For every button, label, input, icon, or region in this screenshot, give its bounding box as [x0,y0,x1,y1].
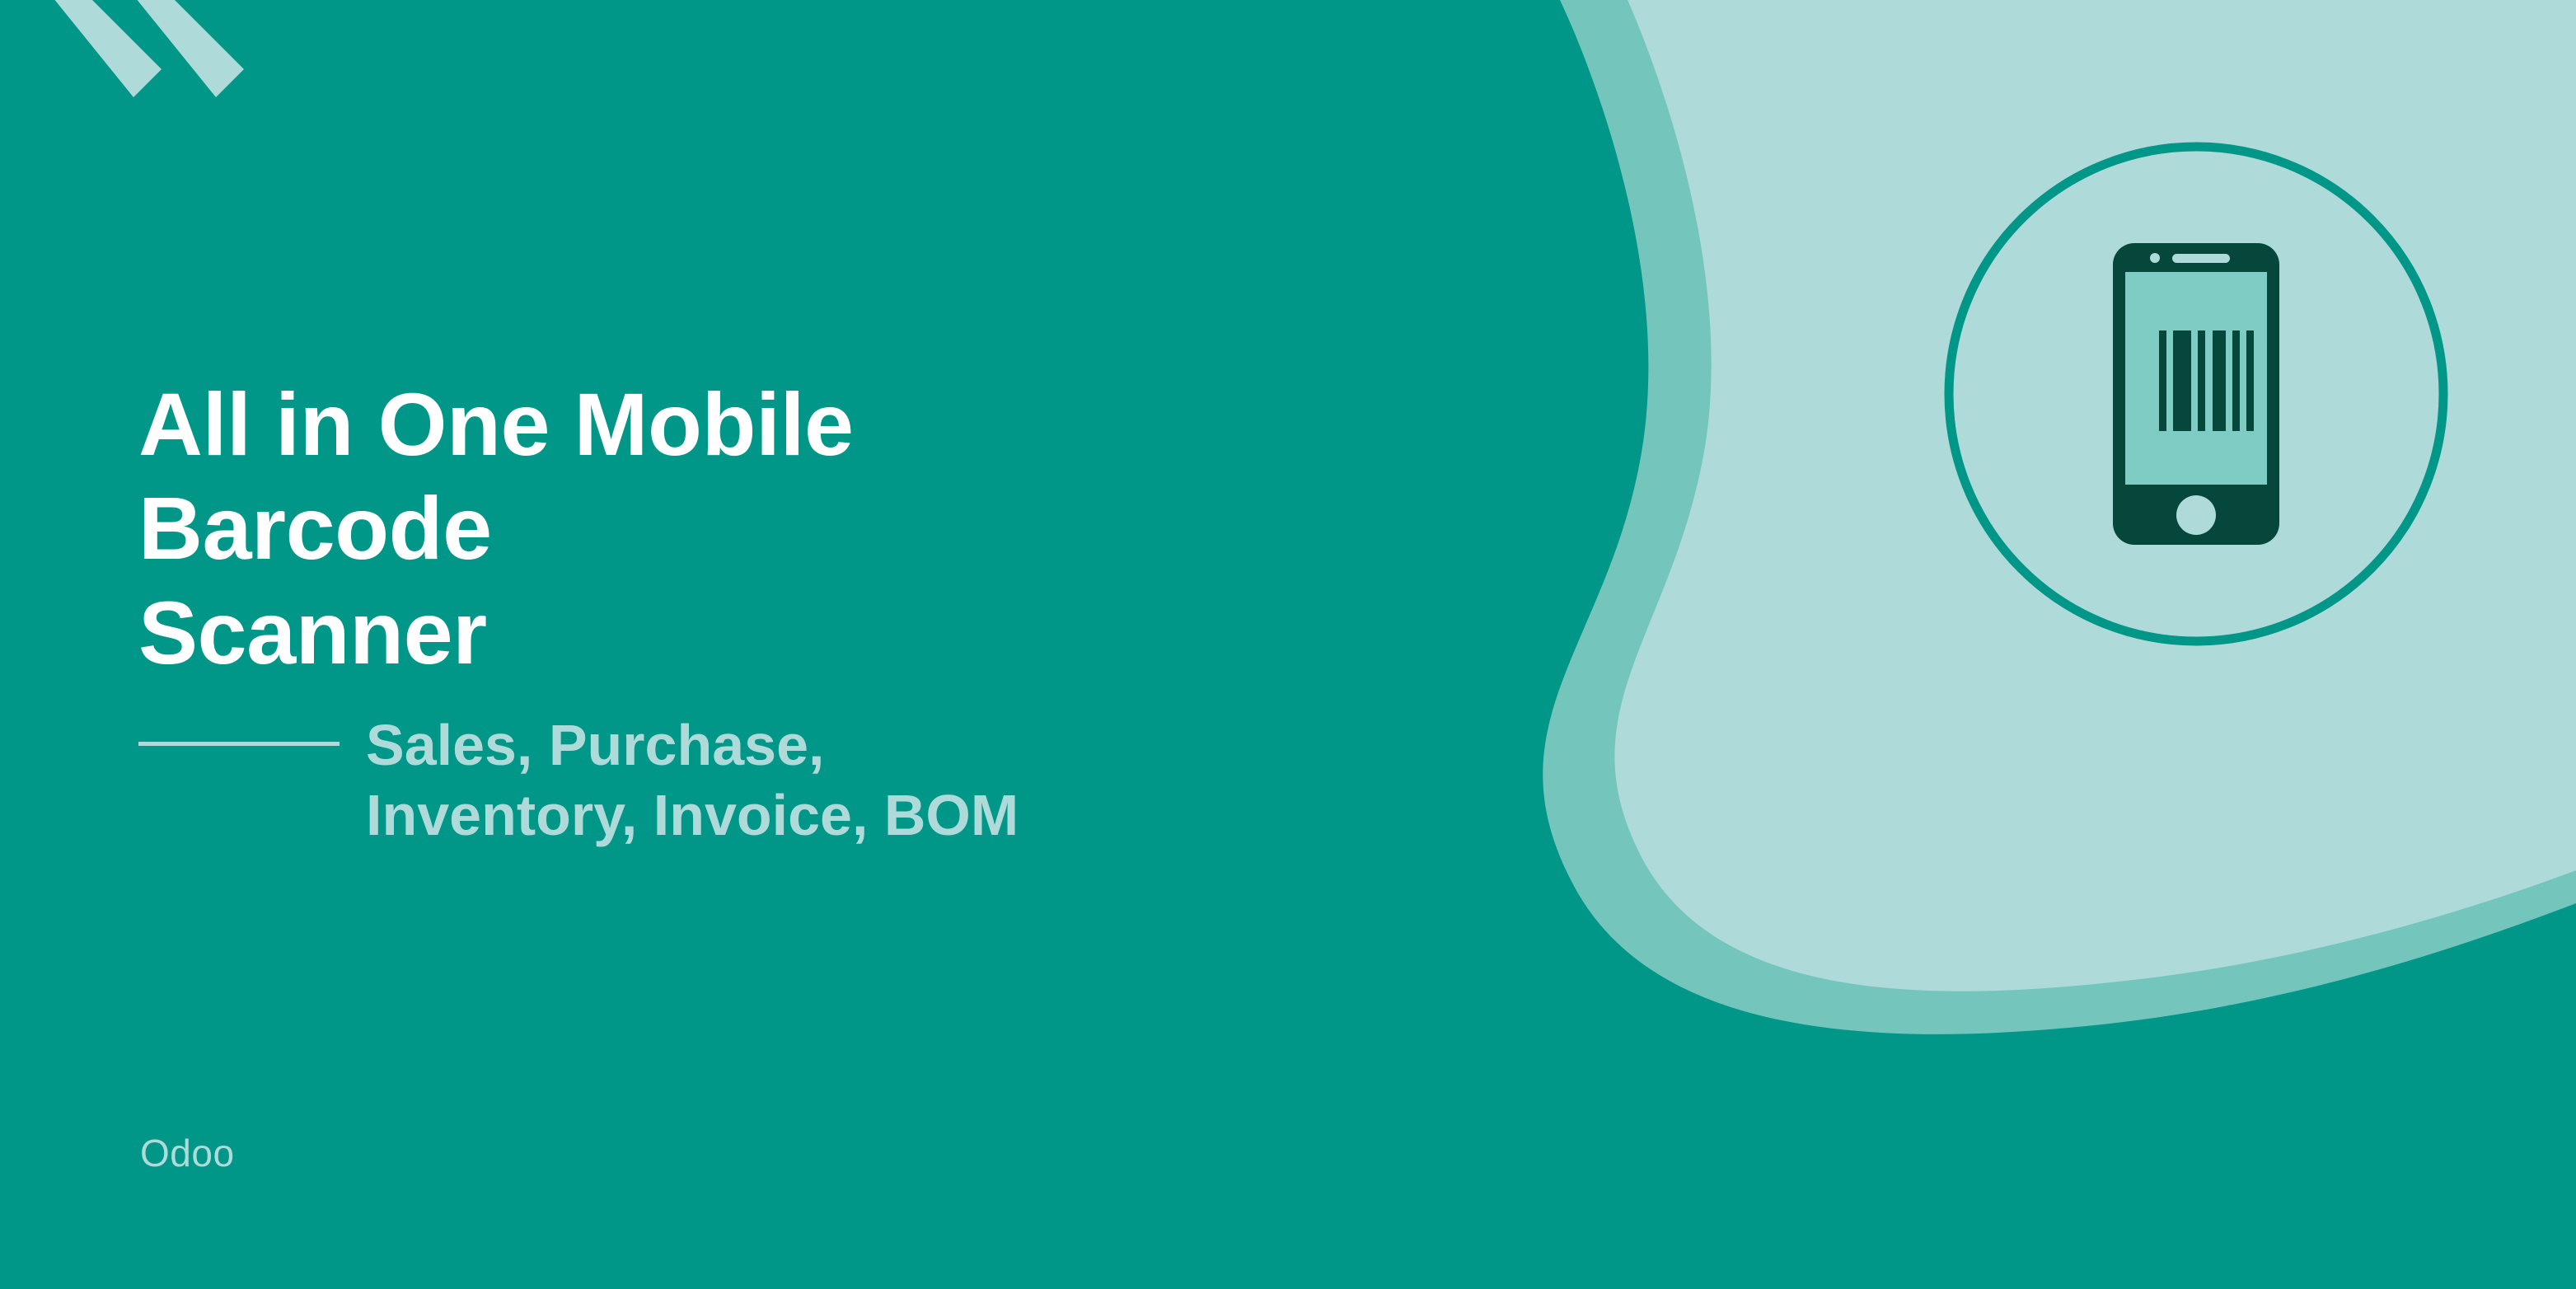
page-subtitle: Sales, Purchase, Inventory, Invoice, BOM [366,710,1066,851]
barcode-bar [2173,330,2191,431]
barcode-bar [2246,330,2254,431]
phone-camera-dot [2150,253,2160,263]
barcode-bar [2198,330,2205,431]
slide-canvas: All in One Mobile Barcode Scanner Sales,… [0,0,2576,1289]
brand-label: Odoo [140,1131,235,1175]
phone-home-button [2176,495,2216,535]
headline-block: All in One Mobile Barcode Scanner [138,373,1754,685]
subtitle-rule [138,742,340,746]
page-title: All in One Mobile Barcode Scanner [138,373,971,685]
mobile-barcode-scanner-icon [1932,130,2460,658]
barcode-bar [2232,330,2240,431]
subtitle-block: Sales, Purchase, Inventory, Invoice, BOM [138,710,1127,851]
phone-speaker-slot [2172,254,2230,263]
phone-screen [2125,272,2267,485]
phone-glyph [2113,243,2279,545]
barcode-bar [2159,330,2166,431]
barcode-bar [2213,330,2226,431]
